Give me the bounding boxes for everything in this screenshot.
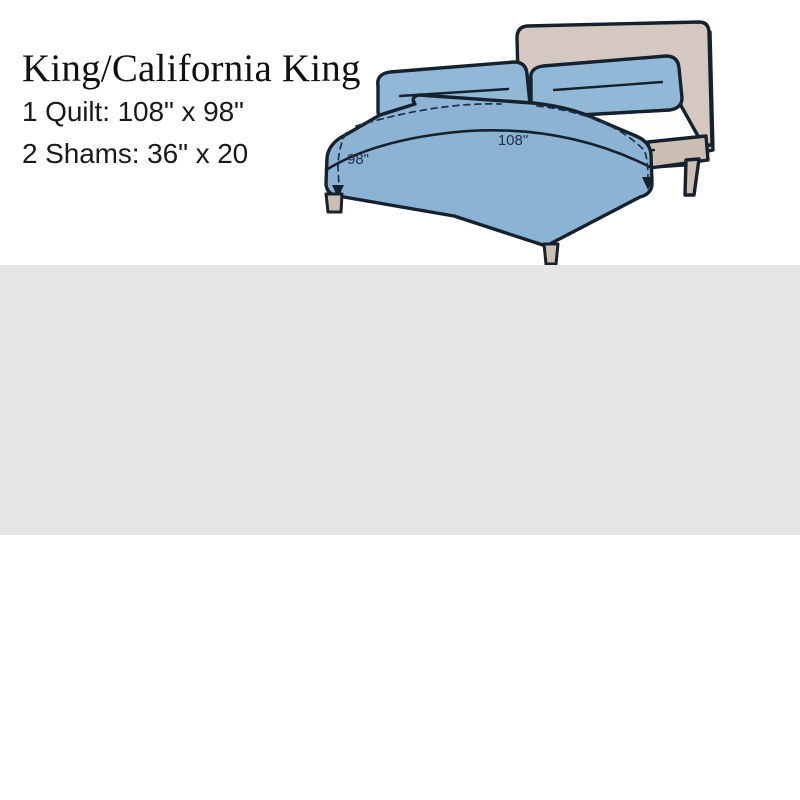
bed-leg-back-right (685, 159, 699, 195)
panel-king: King/California King 1 Quilt: 108" x 98"… (0, 0, 800, 265)
bed-leg-front-left (326, 194, 342, 212)
king-quilt-line: 1 Quilt: 108" x 98" (22, 91, 361, 134)
king-title: King/California King (22, 47, 361, 91)
panel-full-queen: Full/Queen 1 Quilt: 98" x 98" 2 Shams: 2… (0, 265, 800, 535)
king-dim-width-label: 108" (498, 132, 528, 149)
king-bed-illustration: 108" 98" (318, 18, 788, 265)
king-sham-line: 2 Shams: 36" x 20 (22, 133, 361, 176)
king-dim-length-label: 98" (347, 151, 369, 168)
bed-leg-front-center (544, 244, 558, 264)
king-text-block: King/California King 1 Quilt: 108" x 98"… (22, 47, 361, 176)
panel-twin: Twin/Twin XL 1 Quilt: 69" x 98" 1 Sham: … (0, 535, 800, 800)
quilt-size-guide: King/California King 1 Quilt: 108" x 98"… (0, 0, 800, 800)
